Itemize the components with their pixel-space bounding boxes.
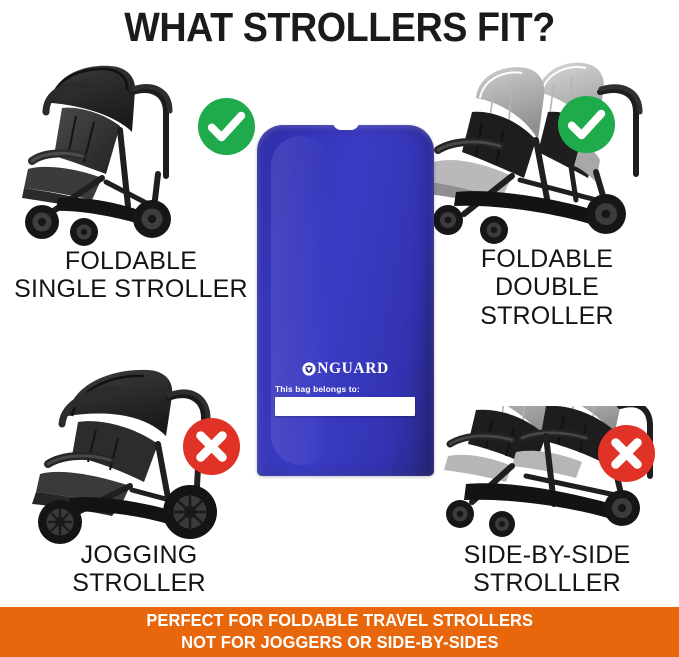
label-foldable-single: FOLDABLE SINGLE STROLLER bbox=[0, 247, 262, 304]
banner-line-2: NOT FOR JOGGERS OR SIDE-BY-SIDES bbox=[181, 632, 498, 654]
bag-body bbox=[257, 125, 434, 476]
bag-belongs-label: This bag belongs to: bbox=[275, 384, 360, 394]
page-title: WHAT STROLLERS FIT? bbox=[27, 4, 652, 51]
green-check-icon bbox=[197, 97, 256, 156]
red-cross-icon bbox=[597, 424, 656, 483]
bag-brand-lockup: NGUARD bbox=[257, 361, 434, 377]
stroller-illustration-double bbox=[420, 52, 672, 244]
label-side-by-side: SIDE-BY-SIDE STROLLLER bbox=[418, 541, 676, 598]
label-jogging: JOGGING STROLLER bbox=[10, 541, 268, 598]
bag-name-field[interactable] bbox=[275, 397, 415, 416]
travel-bag-product-image: NGUARD This bag belongs to: bbox=[257, 125, 434, 476]
shield-circle-icon bbox=[302, 362, 316, 376]
foldable-double-stroller-image bbox=[420, 52, 672, 244]
banner-line-1: PERFECT FOR FOLDABLE TRAVEL STROLLERS bbox=[146, 610, 533, 632]
bag-brand-text: NGUARD bbox=[317, 361, 389, 377]
stroller-fit-infographic: WHAT STROLLERS FIT? bbox=[0, 0, 679, 657]
red-cross-icon bbox=[182, 417, 241, 476]
green-check-icon bbox=[557, 95, 616, 154]
bottom-banner: PERFECT FOR FOLDABLE TRAVEL STROLLERS NO… bbox=[0, 607, 679, 657]
label-foldable-double: FOLDABLE DOUBLE STROLLER bbox=[418, 245, 676, 330]
bag-handle-notch bbox=[333, 122, 359, 130]
